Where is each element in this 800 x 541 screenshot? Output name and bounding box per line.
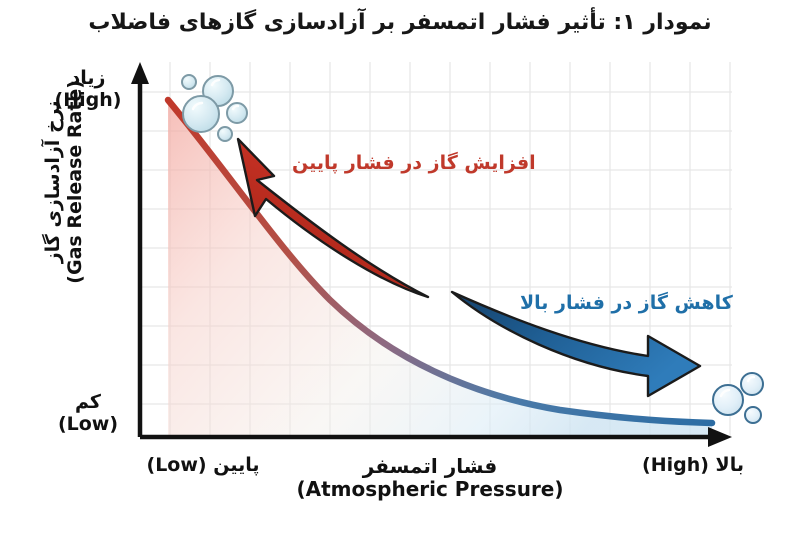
x-axis-low-tick-label: پایین (Low)	[128, 455, 278, 477]
y-axis-title-en: (Gas Release Rate)	[64, 80, 86, 284]
annotation-high-pressure: کاهش گاز در فشار بالا	[520, 292, 733, 314]
y-axis-low-tick-en: (Low)	[58, 413, 118, 435]
y-axis-title-fa: نرخ آزادسازی گاز	[42, 100, 64, 263]
chart-figure: نمودار ۱: تأثیر فشار اتمسفر بر آزادسازی …	[0, 0, 800, 541]
gas-bubbles-bottom-icon	[713, 373, 763, 423]
y-axis	[131, 62, 149, 437]
y-axis-low-tick-fa: کم	[75, 391, 101, 413]
x-axis-high-tick-label: بالا (High)	[618, 455, 768, 477]
x-axis-title-en: (Atmospheric Pressure)	[296, 477, 563, 501]
x-axis-title: فشار اتمسفر (Atmospheric Pressure)	[280, 455, 580, 501]
y-axis-low-tick-label: کم (Low)	[42, 392, 134, 436]
y-axis-title: نرخ آزادسازی گاز (Gas Release Rate)	[43, 52, 87, 312]
x-axis-title-fa: فشار اتمسفر	[363, 454, 497, 478]
annotation-low-pressure: افزایش گاز در فشار پایین	[292, 152, 536, 174]
